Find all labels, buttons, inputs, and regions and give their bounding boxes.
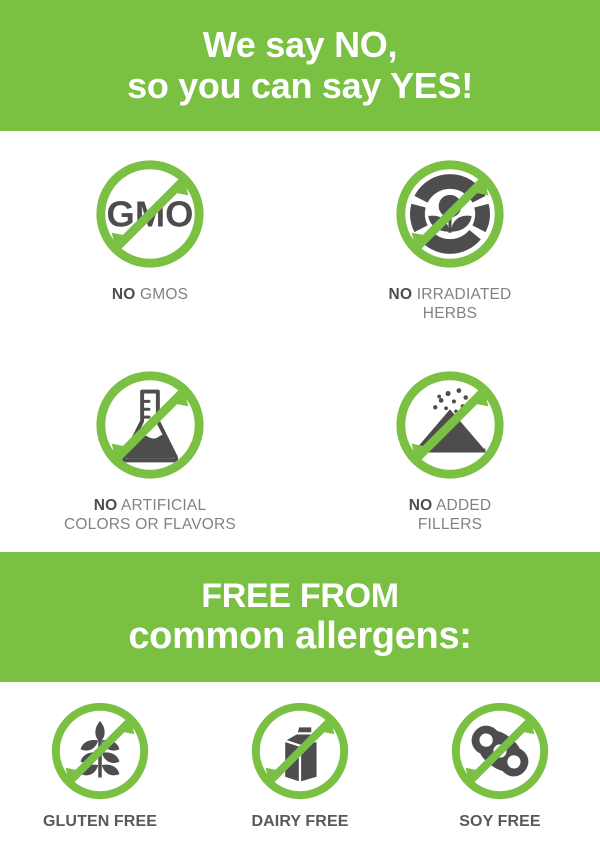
no-claim-gmos-text: GMOS xyxy=(140,286,188,303)
no-claim-artificial-text-2: COLORS OR FLAVORS xyxy=(64,516,236,533)
top-banner: We say NO, so you can say YES! xyxy=(0,0,600,131)
no-claim-irradiated-herbs-caption: NO IRRADIATED HERBS xyxy=(389,285,512,324)
no-word: NO xyxy=(112,286,136,303)
no-claim-artificial-colors-flavors: NO ARTIFICIAL COLORS OR FLAVORS xyxy=(10,342,290,535)
allergen-soy-free: SOY FREE xyxy=(410,698,590,831)
top-banner-line-2: so you can say YES! xyxy=(127,66,473,106)
no-artificial-colors-flavors-icon xyxy=(91,366,209,484)
allergen-dairy-free: DAIRY FREE xyxy=(210,698,390,831)
allergen-gluten-free: GLUTEN FREE xyxy=(10,698,190,831)
no-irradiated-herbs-icon xyxy=(391,155,509,273)
no-gmo-icon: GMO xyxy=(91,155,209,273)
allergen-free-row: GLUTEN FREE xyxy=(0,682,600,855)
no-claims-grid: GMO NO GMOS xyxy=(0,131,600,552)
no-word: NO xyxy=(409,497,433,514)
no-soy-icon xyxy=(447,698,553,804)
top-banner-line-1: We say NO, xyxy=(203,25,397,65)
no-claim-gmos-caption: NO GMOS xyxy=(112,285,188,304)
allergen-dairy-free-label: DAIRY FREE xyxy=(251,813,348,831)
allergen-gluten-free-label: GLUTEN FREE xyxy=(43,813,157,831)
no-claim-added-fillers-caption: NO ADDED FILLERS xyxy=(409,496,492,535)
infographic-page: We say NO, so you can say YES! GMO NO GM… xyxy=(0,0,600,855)
no-claim-irradiated-herbs-text-2: HERBS xyxy=(423,305,477,322)
no-claim-irradiated-herbs: NO IRRADIATED HERBS xyxy=(310,131,590,324)
no-claim-added-fillers-text-1: ADDED xyxy=(436,497,491,514)
allergen-soy-free-label: SOY FREE xyxy=(459,813,540,831)
no-claim-gmos: GMO NO GMOS xyxy=(10,131,290,304)
no-word: NO xyxy=(389,286,413,303)
no-claim-irradiated-herbs-text-1: IRRADIATED xyxy=(417,286,512,303)
allergen-banner-line-2: common allergens: xyxy=(128,615,471,658)
allergen-banner-line-1: FREE FROM xyxy=(201,577,399,615)
no-dairy-icon xyxy=(247,698,353,804)
no-claim-artificial-caption: NO ARTIFICIAL COLORS OR FLAVORS xyxy=(64,496,236,535)
no-gluten-icon xyxy=(47,698,153,804)
no-word: NO xyxy=(94,497,118,514)
no-claim-added-fillers: NO ADDED FILLERS xyxy=(310,342,590,535)
no-claim-added-fillers-text-2: FILLERS xyxy=(418,516,482,533)
no-claim-artificial-text-1: ARTIFICIAL xyxy=(121,497,206,514)
no-added-fillers-icon xyxy=(391,366,509,484)
allergen-banner: FREE FROM common allergens: xyxy=(0,552,600,682)
